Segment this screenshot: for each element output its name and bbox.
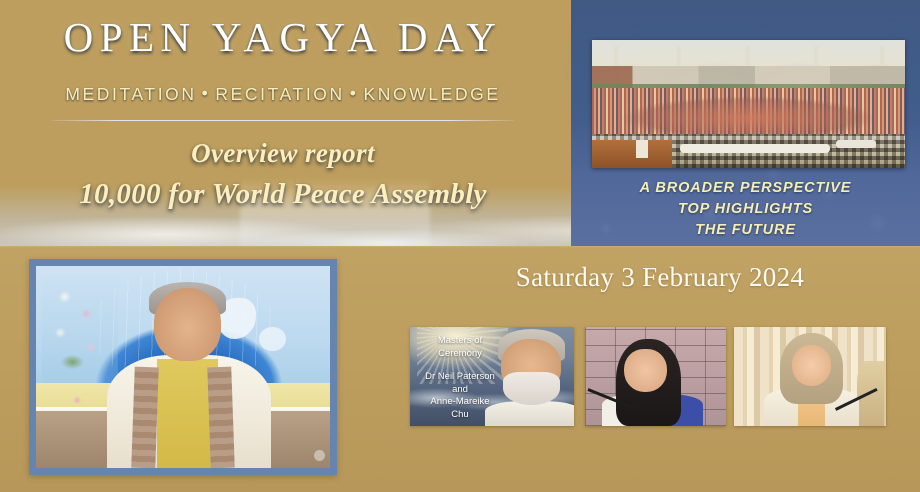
horizontal-divider [52, 120, 514, 121]
presentation-slide: OPEN YAGYA DAY MEDITATION•RECITATION•KNO… [0, 0, 920, 492]
assembly-photo [592, 40, 905, 168]
bullet-separator-icon: • [197, 83, 216, 103]
top-banner: OPEN YAGYA DAY MEDITATION•RECITATION•KNO… [0, 0, 920, 248]
topics-list: A BROADER PERSPECTIVE TOP HIGHLIGHTS THE… [571, 178, 920, 241]
stage-platform [592, 140, 672, 168]
mc-caption: Masters of Ceremony Dr Neil Paterson and… [417, 335, 503, 421]
speaker-face [154, 288, 222, 361]
tagline-item-meditation: MEDITATION [65, 84, 196, 104]
speaker-scarf-right [208, 367, 235, 468]
masters-of-ceremony-card: Masters of Ceremony Dr Neil Paterson and… [410, 327, 574, 426]
main-speaker-portrait [36, 266, 330, 468]
report-subtitle-line-2: 10,000 for World Peace Assembly [0, 180, 566, 209]
speaker-portrait-curtains [734, 327, 886, 426]
mc-role: Masters of Ceremony [417, 335, 503, 360]
bottom-gold-section: Saturday 3 February 2024 Masters of Cere… [0, 248, 920, 492]
topic-item-top-highlights: TOP HIGHLIGHTS [571, 199, 920, 220]
topic-item-broader-perspective: A BROADER PERSPECTIVE [571, 178, 920, 199]
speaker2-face [624, 349, 666, 393]
main-speaker-portrait-frame [29, 259, 337, 475]
watermark-logo-icon [314, 450, 325, 461]
globe-landmass [259, 327, 285, 351]
mc-name-line-1: Dr Neil Paterson [417, 371, 503, 384]
headline-block: OPEN YAGYA DAY MEDITATION•RECITATION•KNO… [0, 0, 566, 248]
event-date: Saturday 3 February 2024 [400, 264, 920, 291]
bullet-separator-icon: • [345, 83, 364, 103]
subtitle-tagline: MEDITATION•RECITATION•KNOWLEDGE [0, 86, 566, 104]
mc-beard [503, 372, 560, 405]
mc-role-line-2: Ceremony [417, 348, 503, 361]
stage-banner-secondary [836, 140, 876, 148]
mc-name-line-2: and [417, 384, 503, 397]
speaker3-face [792, 345, 832, 387]
topic-item-the-future: THE FUTURE [571, 220, 920, 241]
report-subtitle-line-1: Overview report [0, 140, 566, 167]
floral-mural [42, 278, 118, 383]
assembly-crowd [592, 88, 905, 140]
tagline-item-knowledge: KNOWLEDGE [364, 84, 501, 104]
tagline-item-recitation: RECITATION [215, 84, 344, 104]
mc-name-line-4: Chu [417, 409, 503, 422]
mc-role-line-1: Masters of [417, 335, 503, 348]
speaker-scarf-left [131, 367, 158, 468]
podium [636, 140, 648, 158]
right-blue-panel: A BROADER PERSPECTIVE TOP HIGHLIGHTS THE… [571, 0, 920, 248]
speaker-portrait-brick-wall [585, 327, 726, 426]
page-title: OPEN YAGYA DAY [0, 17, 566, 58]
mc-name-line-3: Anne-Mareike [417, 396, 503, 409]
stage-banner [680, 144, 830, 153]
